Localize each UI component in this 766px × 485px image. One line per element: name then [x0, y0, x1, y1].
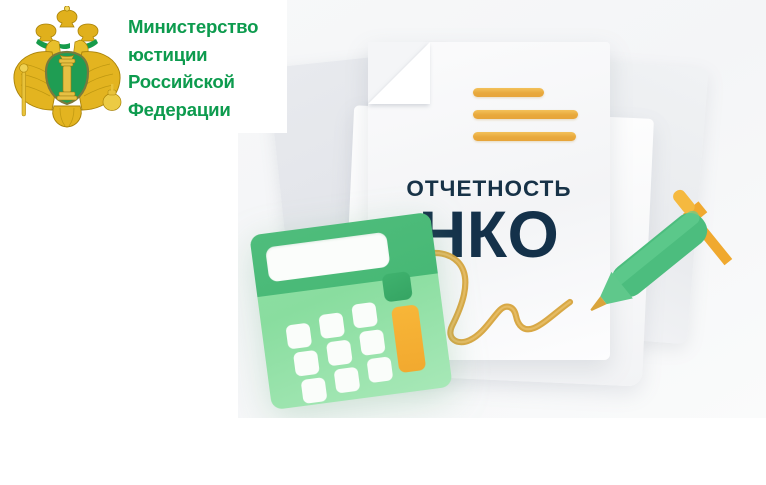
- poster-canvas: ОТЧЕТНОСТЬ НКО: [0, 0, 766, 485]
- calculator-dark-button: [382, 271, 413, 302]
- ministry-title-line-4: Федерации: [128, 96, 288, 124]
- calculator-key: [334, 367, 361, 394]
- calculator-key: [301, 377, 328, 404]
- document-text-line-3: [473, 132, 576, 141]
- ministry-of-justice-emblem-icon: [8, 6, 126, 128]
- calculator: [249, 212, 452, 410]
- calculator-key: [285, 323, 312, 350]
- calculator-orange-button: [391, 304, 426, 373]
- calculator-key: [359, 329, 386, 356]
- calculator-key: [318, 312, 345, 339]
- calculator-key: [366, 356, 393, 383]
- ministry-title-line-1: Министерство: [128, 13, 288, 41]
- ministry-title-line-3: Российской: [128, 68, 288, 96]
- document-text-line-2: [473, 110, 578, 119]
- calculator-body: [249, 212, 452, 410]
- illustration-panel: ОТЧЕТНОСТЬ НКО: [238, 0, 766, 418]
- calculator-key: [326, 339, 353, 366]
- calculator-key: [351, 302, 378, 329]
- document-text-line-1: [473, 88, 544, 97]
- calculator-key: [293, 350, 320, 377]
- document-folded-corner: [368, 42, 430, 104]
- ministry-title-line-2: юстиции: [128, 41, 288, 69]
- ministry-title: Министерство юстиции Российской Федераци…: [128, 13, 288, 123]
- ministry-logo-block: Министерство юстиции Российской Федераци…: [0, 0, 287, 133]
